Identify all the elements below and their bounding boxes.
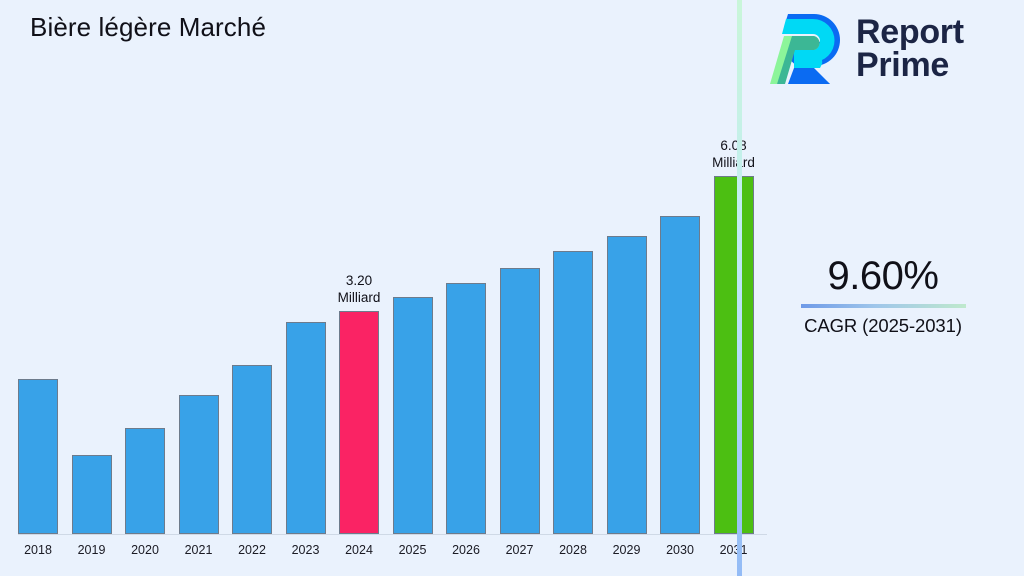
tick-label-2028: 2028: [553, 543, 593, 557]
bar-rect-2021[interactable]: [179, 395, 219, 534]
bar-value-label-2024: 3.20Milliard: [317, 272, 401, 306]
bar-rect-2029[interactable]: [607, 236, 647, 534]
bar-rect-2023[interactable]: [286, 322, 326, 534]
tick-label-2020: 2020: [125, 543, 165, 557]
tick-label-2019: 2019: [72, 543, 112, 557]
tick-label-2027: 2027: [500, 543, 540, 557]
bar-rect-2025[interactable]: [393, 297, 433, 534]
bar-rect-2020[interactable]: [125, 428, 165, 534]
bar-rect-2030[interactable]: [660, 216, 700, 534]
cagr-block: 9.60% CAGR (2025-2031): [742, 255, 1024, 337]
brand-panel: Report Prime 9.60% CAGR (2025-2031): [742, 0, 1024, 576]
bar-value-number-2024: 3.20: [346, 273, 372, 288]
report-prime-logo-icon: [770, 10, 844, 88]
tick-label-2021: 2021: [179, 543, 219, 557]
tick-label-2026: 2026: [446, 543, 486, 557]
bar-rect-2022[interactable]: [232, 365, 272, 534]
bar-rect-2019[interactable]: [72, 455, 112, 534]
tick-label-2024: 2024: [339, 543, 379, 557]
bar-value-unit-2024: Milliard: [317, 289, 401, 306]
tick-label-2025: 2025: [393, 543, 433, 557]
bar-rect-2027[interactable]: [500, 268, 540, 534]
cagr-divider-rule: [801, 304, 966, 308]
bar-rect-2018[interactable]: [18, 379, 58, 534]
tick-label-2029: 2029: [607, 543, 647, 557]
bar-chart-plot: 3.20Milliard6.08Milliard 201820192020202…: [0, 0, 739, 576]
tick-label-2018: 2018: [18, 543, 58, 557]
report-infographic-page: Bière légère Marché 3.20Milliard6.08Mill…: [0, 0, 1024, 576]
bar-rect-2026[interactable]: [446, 283, 486, 534]
logo-wordmark: Report Prime: [856, 16, 964, 81]
chart-panel: Bière légère Marché 3.20Milliard6.08Mill…: [0, 0, 739, 576]
tick-label-2023: 2023: [286, 543, 326, 557]
report-prime-logo[interactable]: Report Prime: [770, 10, 964, 88]
logo-word-prime: Prime: [856, 49, 964, 82]
cagr-caption: CAGR (2025-2031): [742, 315, 1024, 337]
x-axis-line: [18, 534, 767, 535]
cagr-value: 9.60%: [742, 255, 1024, 298]
tick-label-2022: 2022: [232, 543, 272, 557]
tick-label-2030: 2030: [660, 543, 700, 557]
bar-rect-2024[interactable]: [339, 311, 379, 534]
bar-rect-2028[interactable]: [553, 251, 593, 534]
